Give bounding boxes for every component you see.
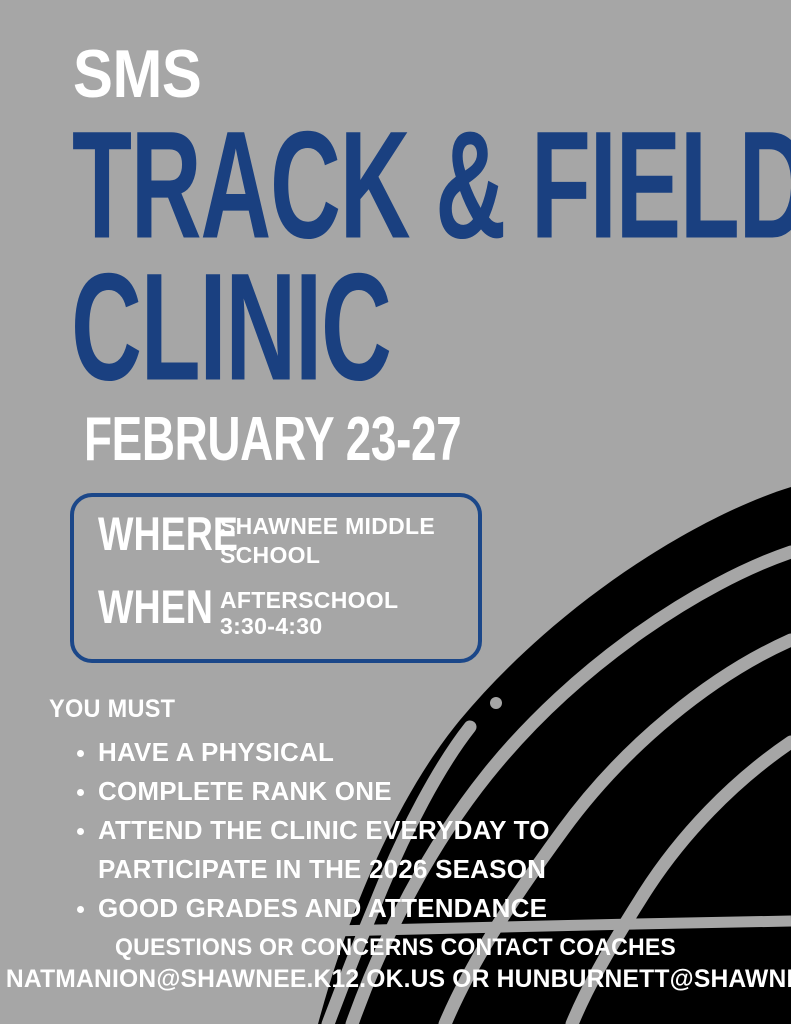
school-abbreviation: SMS	[73, 40, 201, 108]
list-item: GOOD GRADES AND ATTENDANCE	[98, 889, 598, 928]
page-title-line-2: CLINIC	[71, 250, 391, 403]
flyer-poster: SMS TRACK & FIELD CLINIC FEBRUARY 23-27 …	[0, 0, 791, 1024]
when-label: WHEN	[98, 583, 196, 630]
event-details-box: WHERE SHAWNEE MIDDLE SCHOOL WHEN AFTERSC…	[70, 493, 482, 663]
detail-row-where: WHERE SHAWNEE MIDDLE SCHOOL	[98, 510, 435, 570]
page-title-line-1: TRACK & FIELD	[72, 108, 791, 261]
requirements-list: HAVE A PHYSICAL COMPLETE RANK ONE ATTEND…	[74, 733, 598, 928]
where-value: SHAWNEE MIDDLE SCHOOL	[220, 510, 435, 570]
contact-prompt: QUESTIONS OR CONCERNS CONTACT COACHES	[16, 933, 775, 963]
requirements-heading: YOU MUST	[49, 697, 175, 722]
list-item: HAVE A PHYSICAL	[98, 733, 598, 772]
event-dates: FEBRUARY 23-27	[84, 409, 461, 471]
list-item: ATTEND THE CLINIC EVERYDAY TO PARTICIPAT…	[98, 811, 598, 889]
contact-footer: QUESTIONS OR CONCERNS CONTACT COACHES NA…	[0, 933, 791, 995]
contact-emails: NATMANION@SHAWNEE.K12.OK.US OR HUNBURNET…	[6, 963, 785, 995]
flyer-content: SMS TRACK & FIELD CLINIC FEBRUARY 23-27 …	[0, 0, 791, 1024]
where-label: WHERE	[98, 510, 196, 557]
detail-row-when: WHEN AFTERSCHOOL 3:30-4:30	[98, 583, 398, 639]
when-value: AFTERSCHOOL 3:30-4:30	[220, 583, 398, 639]
list-item: COMPLETE RANK ONE	[98, 772, 598, 811]
